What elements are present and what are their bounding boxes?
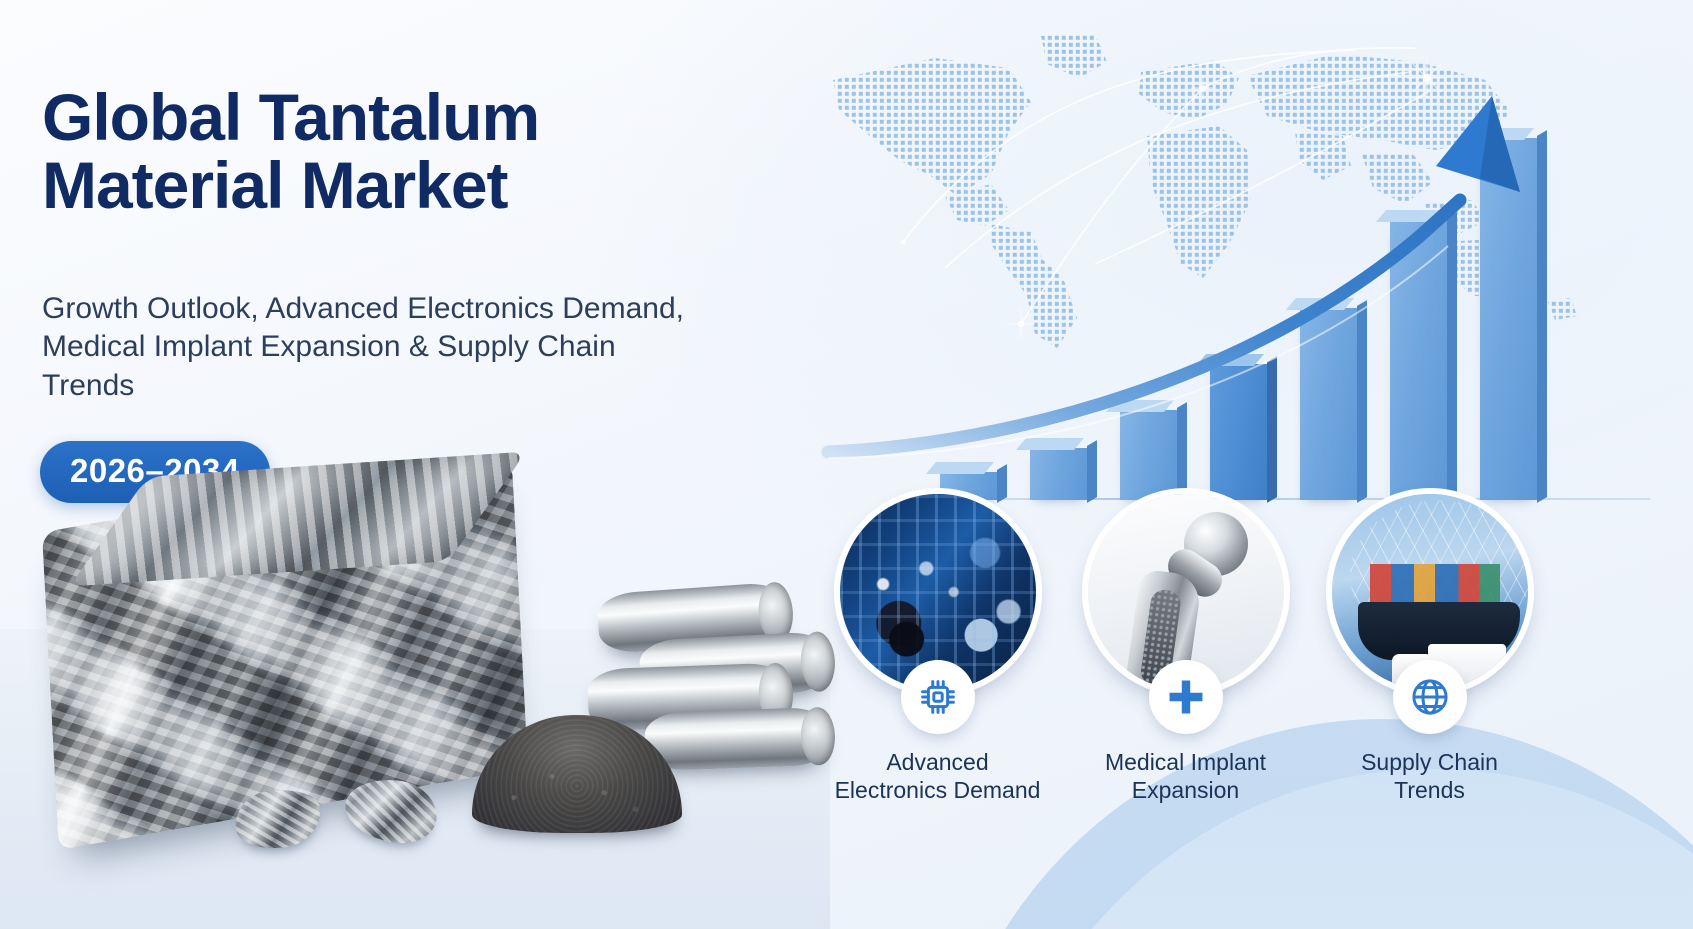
tantalum-rod: [644, 707, 831, 771]
chart-bar-5: [1300, 308, 1358, 500]
page-title-line2: Material Market: [42, 152, 802, 220]
chart-bar-7: [1480, 138, 1538, 500]
feature-label: Advanced Electronics Demand: [830, 748, 1045, 804]
globe-icon: [1393, 660, 1467, 734]
feature-label-line1: Supply Chain: [1361, 749, 1498, 775]
feature-label-line1: Advanced: [886, 749, 988, 775]
chart-bar-3: [1120, 410, 1178, 500]
feature-label-line2: Trends: [1394, 777, 1465, 803]
feature-item-medical[interactable]: Medical Implant Expansion: [1078, 488, 1293, 804]
feature-item-supply-chain[interactable]: Supply Chain Trends: [1322, 488, 1537, 804]
feature-list: Advanced Electronics Demand Medical Impl…: [830, 488, 1550, 888]
chart-bar-4: [1210, 364, 1268, 500]
chart-bar-6: [1390, 220, 1448, 500]
growth-bar-chart: [880, 100, 1660, 500]
infographic-banner: Global Tantalum Material Market Growth O…: [0, 0, 1693, 929]
page-title-line1: Global Tantalum: [42, 80, 539, 154]
page-subtitle: Growth Outlook, Advanced Electronics Dem…: [42, 290, 702, 405]
feature-item-electronics[interactable]: Advanced Electronics Demand: [830, 488, 1045, 804]
medical-cross-icon: [1149, 660, 1223, 734]
feature-label: Supply Chain Trends: [1322, 748, 1537, 804]
feature-label-line1: Medical Implant: [1105, 749, 1266, 775]
microchip-icon: [901, 660, 975, 734]
page-title: Global Tantalum Material Market: [42, 84, 802, 220]
feature-label-line2: Expansion: [1132, 777, 1239, 803]
feature-label: Medical Implant Expansion: [1078, 748, 1293, 804]
tantalum-product-photo: [0, 470, 830, 929]
feature-label-line2: Electronics Demand: [835, 777, 1041, 803]
